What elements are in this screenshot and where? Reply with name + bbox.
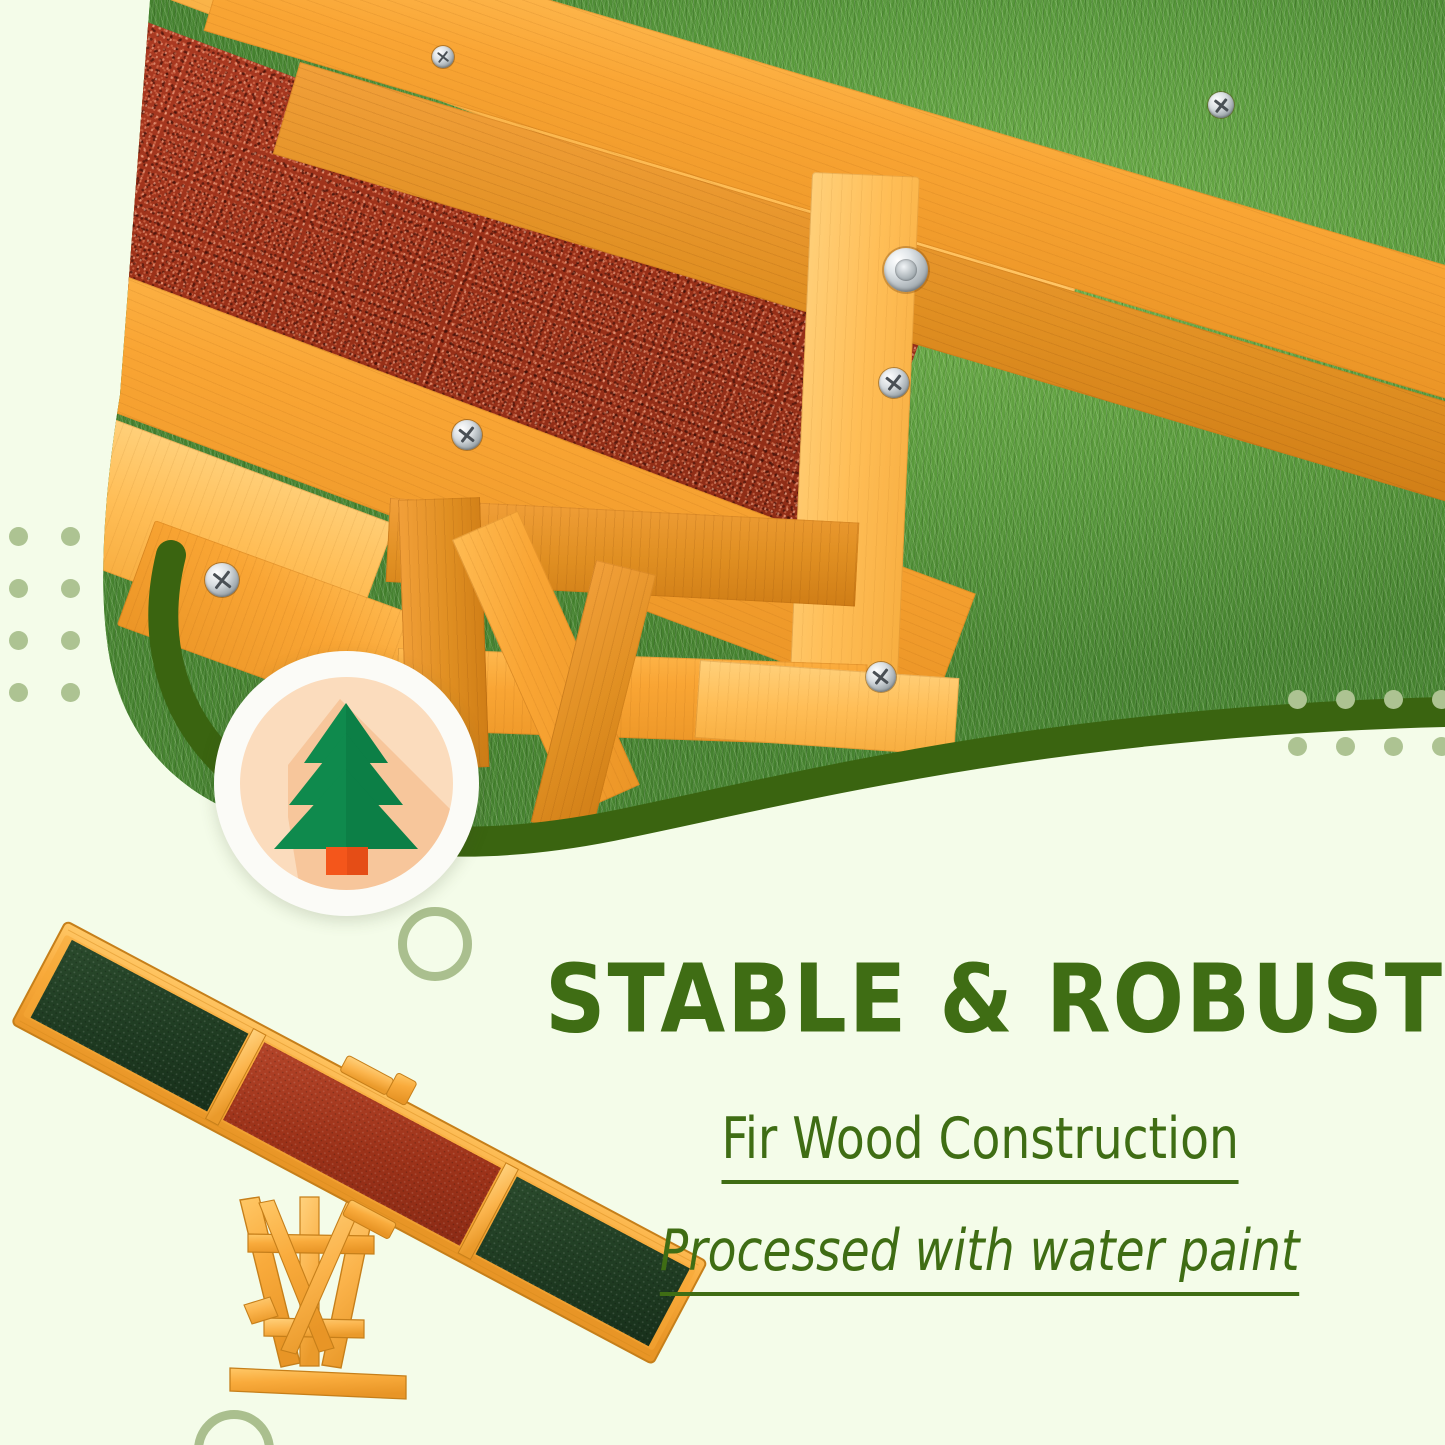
decor-dot [1384,690,1403,709]
decor-dot [1288,690,1307,709]
screw-cleat [205,563,239,597]
feature-line-2-text: Processed with water paint [660,1222,1300,1296]
decor-dot [1384,737,1403,756]
decor-dot [61,527,80,546]
screw-post-low [866,662,896,692]
feature-line-1-text: Fir Wood Construction [721,1110,1238,1184]
decor-dot [61,631,80,650]
decor-dot [9,683,28,702]
screw-top-beam [1208,92,1234,118]
decor-dot [9,631,28,650]
screw-post-mid [879,368,909,398]
page-title: STABLE & ROBUST [545,952,1415,1046]
feature-line-1: Fir Wood Construction [545,1110,1415,1184]
screw-rail-left [452,420,482,450]
product-feature-graphic: STABLE & ROBUST Fir Wood Construction Pr… [0,0,1445,1445]
decor-dot [9,527,28,546]
decor-dot [1336,690,1355,709]
decor-dot [61,579,80,598]
support-cross-rail-upper [248,1234,374,1254]
decor-dot [1288,737,1307,756]
screw-ramp-top [432,46,454,68]
decor-dot [1336,737,1355,756]
decor-dot [1432,737,1445,756]
dot-grid-left [9,527,113,735]
hero-photo [0,0,1445,840]
decor-dot [61,683,80,702]
hex-bolt-head [884,248,928,292]
decor-dot [1432,690,1445,709]
dot-grid-right [1288,690,1445,784]
feature-line-2: Processed with water paint [545,1222,1415,1296]
support-base-foot [230,1368,406,1399]
decor-dot [9,579,28,598]
